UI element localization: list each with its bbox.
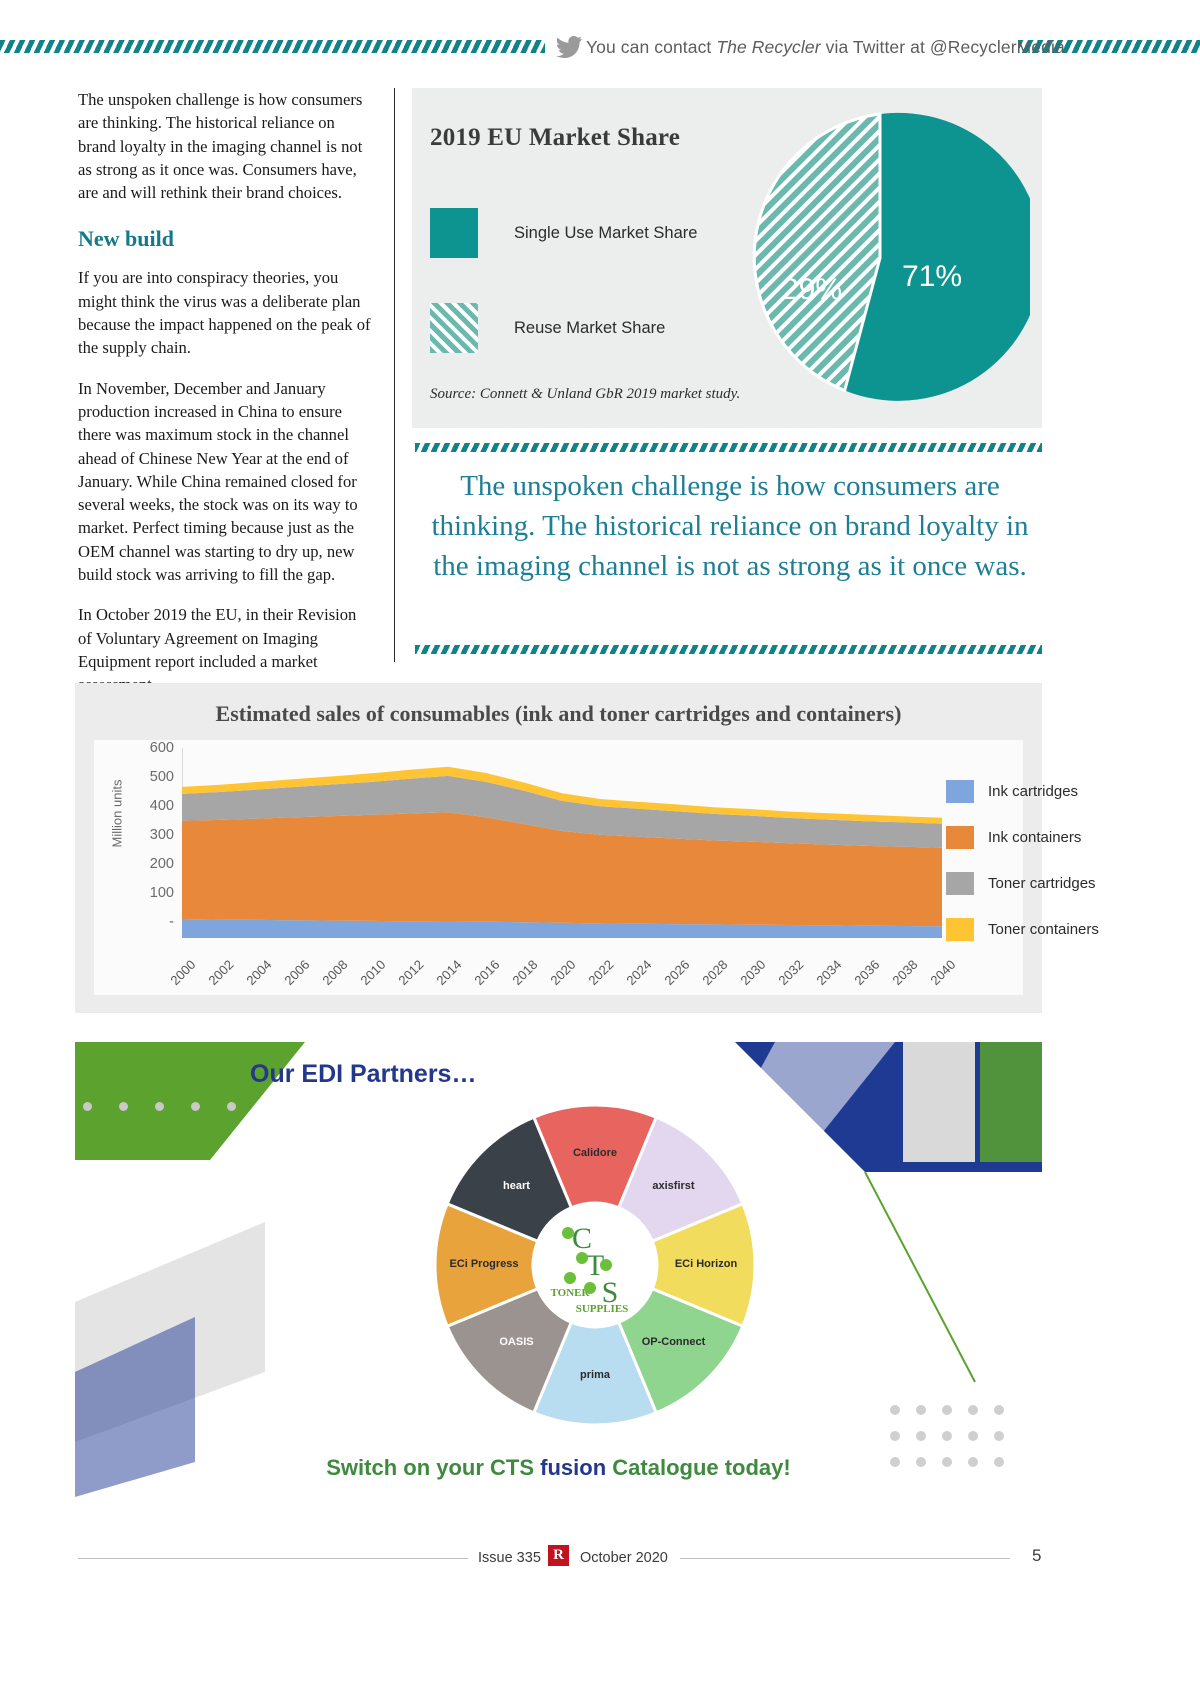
partner-label: Calidore [551, 1147, 639, 1159]
footer-page-number: 5 [1032, 1546, 1041, 1566]
footer-date: October 2020 [580, 1550, 668, 1566]
article-body: The unspoken challenge is how consumers … [78, 88, 374, 714]
header-contact-text: You can contact The Recycler via Twitter… [586, 37, 1065, 58]
partner-label: ECi Progress [440, 1258, 528, 1270]
area-chart-y-tick: 400 [136, 798, 174, 814]
cts-logo-dot-icon [600, 1259, 612, 1271]
area-chart-x-tick: 2006 [281, 957, 312, 988]
area-chart-x-tick: 2008 [319, 957, 350, 988]
area-legend-item: Toner containers [946, 918, 1099, 941]
area-chart-series-graphic [182, 748, 942, 938]
header-text-before: You can contact [586, 37, 716, 57]
advert-title: Our EDI Partners… [250, 1060, 476, 1089]
advert-dot [227, 1102, 236, 1111]
advertisement-banner[interactable]: Our EDI Partners… CTSTONERSUPPLIES Calid… [75, 1042, 1042, 1497]
partner-label: heart [473, 1180, 561, 1192]
footer-logo-mark: R [548, 1545, 569, 1566]
pie-chart-graphic [730, 108, 1030, 408]
area-chart-panel: Estimated sales of consumables (ink and … [75, 683, 1042, 1013]
area-chart-x-tick: 2024 [623, 957, 654, 988]
area-chart-legend: Ink cartridgesInk containersToner cartri… [946, 780, 1099, 964]
partner-label: ECi Horizon [662, 1258, 750, 1270]
area-chart-y-ticks: 600500400300200100- [132, 740, 174, 935]
header-stripe-left [0, 40, 545, 53]
advert-call-to-action[interactable]: Switch on your CTS fusion Catalogue toda… [75, 1455, 1042, 1481]
area-chart-y-tick: 500 [136, 769, 174, 785]
area-chart-x-tick: 2016 [471, 957, 502, 988]
article-subheading: New build [78, 226, 374, 252]
column-divider [394, 88, 395, 662]
area-legend-swatch-icon [946, 872, 974, 895]
pie-legend-label: Single Use Market Share [514, 224, 697, 243]
area-legend-label: Ink cartridges [988, 783, 1078, 800]
area-legend-swatch-icon [946, 826, 974, 849]
pie-value-label-71: 71% [902, 260, 962, 294]
area-chart-plot-area: Million units 600500400300200100- 200020… [94, 740, 1023, 995]
area-chart-x-tick: 2000 [167, 957, 198, 988]
header-publication-name: The Recycler [716, 37, 820, 57]
area-chart-x-tick: 2010 [357, 957, 388, 988]
area-chart-x-ticks: 2000200220042006200820102012201420162018… [182, 940, 972, 988]
area-chart-y-tick: 100 [136, 885, 174, 901]
area-chart-y-tick: 300 [136, 827, 174, 843]
area-chart-y-axis-label: Million units [110, 749, 125, 879]
pie-legend-item-single-use: Single Use Market Share [430, 208, 697, 258]
cts-logo-dot-icon [576, 1252, 588, 1264]
partner-label: axisfirst [629, 1180, 717, 1192]
area-chart-y-tick: 600 [136, 740, 174, 756]
advert-dot [119, 1102, 128, 1111]
area-chart-x-tick: 2020 [547, 957, 578, 988]
pie-chart-panel: 2019 EU Market Share Single Use Market S… [412, 88, 1042, 428]
area-chart-x-tick: 2026 [661, 957, 692, 988]
cts-logo-dot-icon [562, 1227, 574, 1239]
area-chart-x-tick: 2038 [889, 957, 920, 988]
partner-label: OASIS [473, 1336, 561, 1348]
cts-logo-dot-icon [584, 1282, 596, 1294]
area-chart-x-tick: 2002 [205, 957, 236, 988]
advert-dot [83, 1102, 92, 1111]
area-chart-title: Estimated sales of consumables (ink and … [75, 701, 1042, 727]
footer-issue: Issue 335 [478, 1550, 541, 1566]
area-chart-x-tick: 2028 [699, 957, 730, 988]
advert-dot [191, 1102, 200, 1111]
pullquote-text: The unspoken challenge is how consumers … [420, 466, 1040, 586]
area-chart-x-tick: 2022 [585, 957, 616, 988]
footer-rule-left [78, 1558, 468, 1559]
header-text-after: via Twitter at @RecyclerMedia [821, 37, 1065, 57]
area-legend-label: Toner cartridges [988, 875, 1096, 892]
article-paragraph: The unspoken challenge is how consumers … [78, 88, 374, 204]
area-chart-x-tick: 2034 [813, 957, 844, 988]
cts-logo-text: SUPPLIES [576, 1303, 629, 1315]
area-legend-item: Toner cartridges [946, 872, 1099, 895]
area-chart-y-tick: 200 [136, 856, 174, 872]
article-paragraph: In November, December and January produc… [78, 377, 374, 587]
area-legend-swatch-icon [946, 918, 974, 941]
area-chart-y-tick: - [136, 914, 174, 930]
advert-dot-row [83, 1102, 236, 1111]
area-chart-x-tick: 2014 [433, 957, 464, 988]
area-chart-x-tick: 2004 [243, 957, 274, 988]
pullquote-rule-bottom [415, 645, 1042, 654]
pie-value-label-29: 29% [782, 273, 842, 307]
advert-cta-brand: fusion [540, 1455, 606, 1480]
area-legend-label: Toner containers [988, 921, 1099, 938]
advert-dot [155, 1102, 164, 1111]
area-chart-x-tick: 2036 [851, 957, 882, 988]
article-paragraph: If you are into conspiracy theories, you… [78, 266, 374, 359]
partner-label: prima [551, 1369, 639, 1381]
legend-swatch-solid-icon [430, 208, 478, 258]
partner-puzzle-wheel: CTSTONERSUPPLIES CalidoreaxisfirstECi Ho… [430, 1100, 760, 1430]
area-legend-label: Ink containers [988, 829, 1081, 846]
area-legend-swatch-icon [946, 780, 974, 803]
area-chart-x-tick: 2018 [509, 957, 540, 988]
pie-chart-source: Source: Connett & Unland GbR 2019 market… [430, 386, 740, 403]
article-paragraph-text: In October 2019 the EU, in their Revisio… [78, 605, 356, 694]
advert-cta-part1: Switch on your CTS [326, 1455, 540, 1480]
footer-rule-right [680, 1558, 1010, 1559]
cts-logo-dot-icon [564, 1272, 576, 1284]
pie-legend-item-reuse: Reuse Market Share [430, 303, 665, 353]
area-chart-x-tick: 2012 [395, 957, 426, 988]
pie-legend-label: Reuse Market Share [514, 319, 665, 338]
twitter-bird-icon [556, 36, 582, 58]
area-chart-x-tick: 2032 [775, 957, 806, 988]
partner-label: OP-Connect [629, 1336, 717, 1348]
legend-swatch-hatched-icon [430, 303, 478, 353]
pullquote-rule-top [415, 443, 1042, 452]
area-legend-item: Ink containers [946, 826, 1099, 849]
area-chart-x-tick: 2030 [737, 957, 768, 988]
advert-cta-part2: Catalogue today! [606, 1455, 791, 1480]
area-legend-item: Ink cartridges [946, 780, 1099, 803]
pie-chart-title: 2019 EU Market Share [430, 124, 680, 152]
